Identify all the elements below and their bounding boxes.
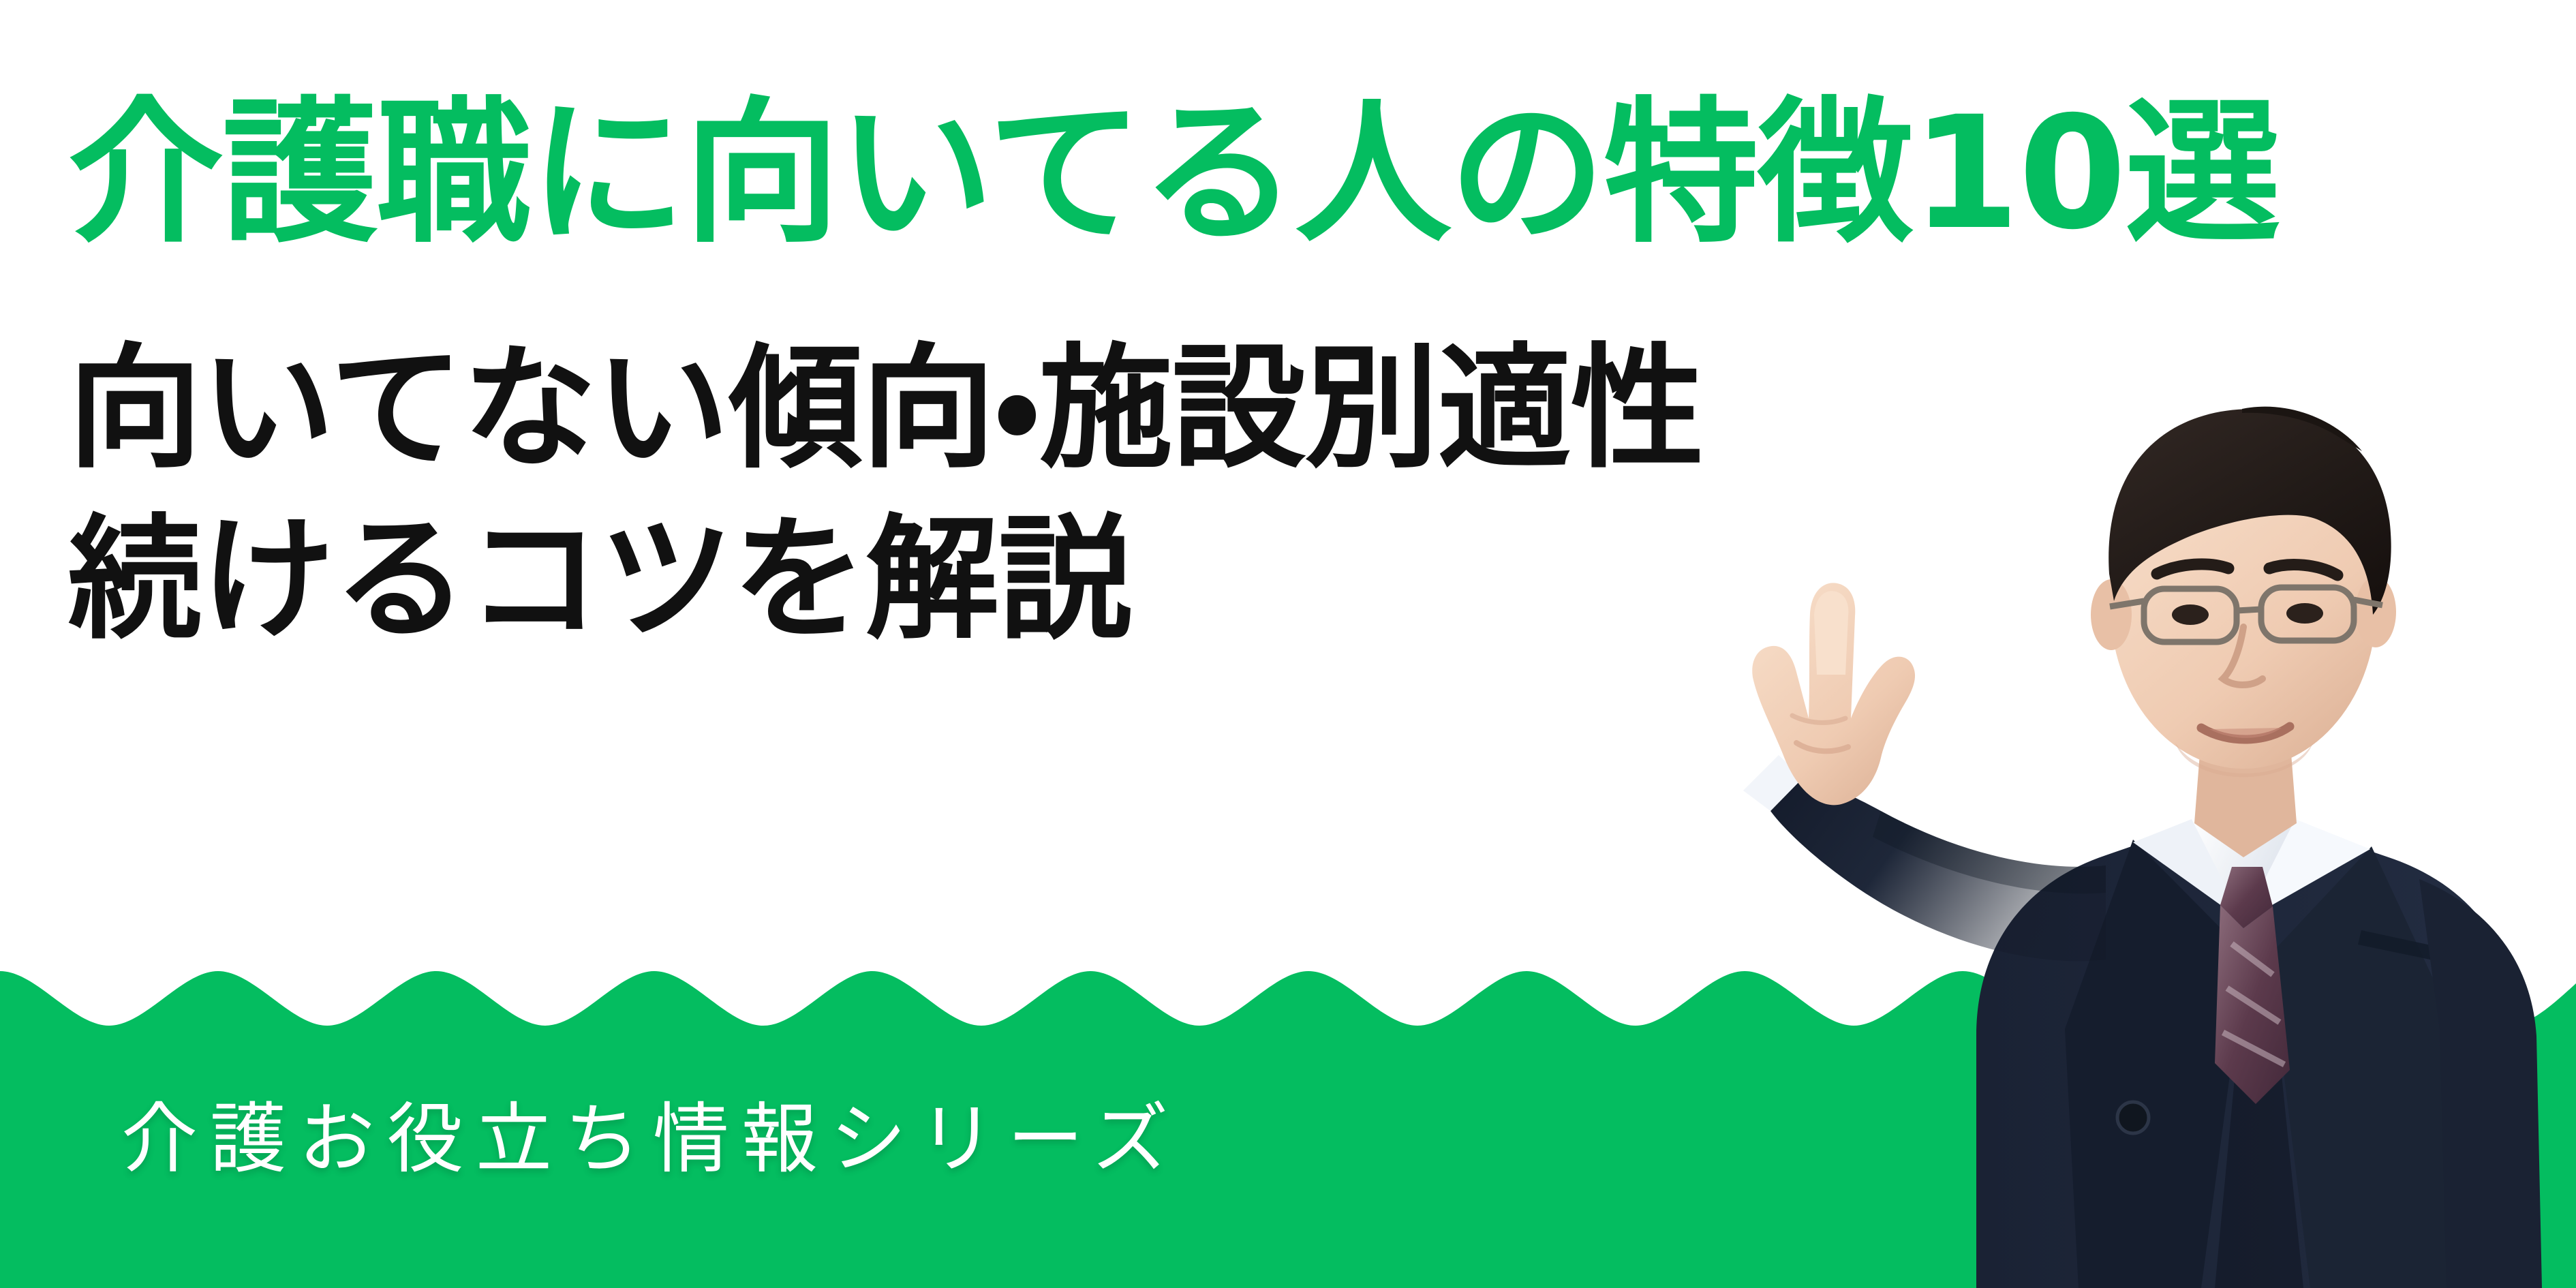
subtitle-line-1: 向いてない傾向・施設別適性 xyxy=(68,324,2194,495)
headline: 介護職に向いてる人の特徴10選 xyxy=(68,82,2194,265)
neck xyxy=(2194,736,2297,857)
series-label: 介護お役立ち情報シリーズ xyxy=(121,1101,1180,1178)
subtitle-line-2: 続けるコツを解説 xyxy=(68,495,2194,666)
right-arm xyxy=(2419,879,2542,1288)
shirt-collar xyxy=(2133,811,2370,921)
suit-jacket xyxy=(1976,825,2520,1288)
necktie xyxy=(2215,867,2290,1104)
text-block: 介護職に向いてる人の特徴10選 向いてない傾向・施設別適性 続けるコツを解説 xyxy=(68,82,2194,666)
subtitle-group: 向いてない傾向・施設別適性 続けるコツを解説 xyxy=(68,324,2194,666)
banner-canvas: 介護職に向いてる人の特徴10選 向いてない傾向・施設別適性 続けるコツを解説 介… xyxy=(0,0,2576,1288)
